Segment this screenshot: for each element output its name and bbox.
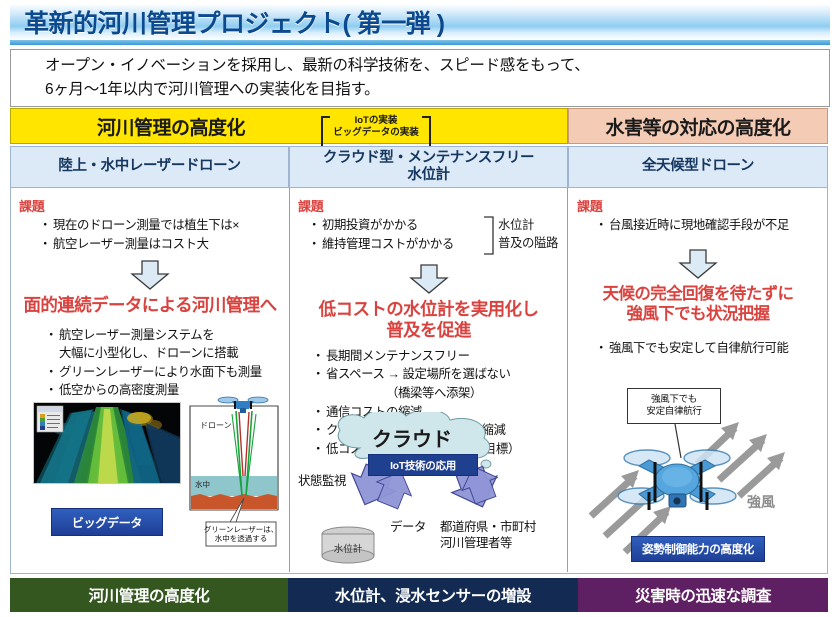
- footer-band: 河川管理の高度化 水位計、浸水センサーの増設 災害時の迅速な調査: [10, 578, 828, 612]
- brace-note-line-1: 水位計: [498, 217, 558, 235]
- laser-note-line-1: グリーンレーザーは、: [204, 524, 278, 534]
- green-laser-diagram-svg: ドローン 水中 グリーンレーザーは、 水中を透過する: [186, 384, 286, 564]
- list-item: グリーンレーザーにより水面下も測量: [45, 364, 289, 382]
- data-flow-label: データ: [390, 520, 426, 536]
- lead-line-1: オープン・イノベーションを採用し、最新の科学技術を、スピード感をもって、: [45, 54, 589, 78]
- subheader-label-3: 全天候型ドローン: [642, 158, 754, 175]
- iot-implementation-box: IoTの実装 ビッグデータの実装: [311, 111, 441, 143]
- column3-figure: 強風下でも 安定自律航行 強風 姿勢制御能力の高度化: [569, 384, 827, 572]
- column2-figure: クラウド: [290, 412, 568, 572]
- list-item: 大幅に小型化し、ドローンに搭載: [45, 345, 289, 363]
- column2-headline-line-2: 普及を促進: [290, 320, 567, 341]
- iot-chip-label: IoT技術の応用: [390, 458, 456, 473]
- subheader-cell-1: 陸上・水中レーザードローン: [10, 146, 289, 188]
- iot-technology-chip: IoT技術の応用: [368, 454, 478, 476]
- category-band: 河川管理の高度化 IoTの実装 ビッグデータの実装 水害等の対応の高度化: [10, 108, 828, 144]
- status-monitoring-label: 状態監視: [298, 474, 346, 490]
- column1-figure: ビッグデータ: [11, 380, 289, 572]
- category-right-peach: 水害等の対応の高度化: [568, 108, 828, 144]
- subheader-label-2-line-1: クラウド型・メンテナンスフリー: [323, 150, 534, 166]
- column3-headline-line-2: 強風下でも状況把握: [569, 304, 827, 324]
- list-item: 強風下でも安定して自律航行可能: [595, 340, 827, 358]
- iot-bracket-inner: IoTの実装 ビッグデータの実装: [321, 115, 431, 139]
- lidar-pointcloud-svg: [34, 403, 180, 483]
- callout-line-1: 強風下でも: [651, 394, 697, 406]
- column3-headline: 天候の完全回復を待たずに 強風下でも状況把握: [569, 284, 827, 324]
- footer-label-1: 河川管理の高度化: [89, 584, 210, 606]
- column-water-gauge: 課題 初期投資がかかる 維持管理コストがかかる 水位計 普及の隘路 低コストの水: [289, 188, 568, 572]
- subheader-label-2: クラウド型・メンテナンスフリー 水位計: [323, 150, 534, 185]
- brace-note-line-2: 普及の隘路: [498, 235, 558, 253]
- column1-headline: 面的連続データによる河川管理へ: [11, 295, 289, 316]
- subheader-cell-2: クラウド型・メンテナンスフリー 水位計: [289, 146, 568, 188]
- footer-label-3: 災害時の迅速な調査: [635, 584, 771, 606]
- column2-headline: 低コストの水位計を実用化し 普及を促進: [290, 299, 567, 342]
- subheader-band: 陸上・水中レーザードローン クラウド型・メンテナンスフリー 水位計 全天候型ドロ…: [10, 146, 828, 188]
- attitude-control-label: 姿勢制御能力の高度化: [642, 541, 754, 557]
- column2-headline-line-1: 低コストの水位計を実用化し: [290, 299, 567, 320]
- column3-headline-line-1: 天候の完全回復を待たずに: [569, 284, 827, 304]
- river-manager-line-1: 都道府県・市町村: [440, 520, 536, 536]
- column-lidar-drone: 課題 現在のドローン測量では植生下は× 航空レーザー測量はコスト大 面的連続デー…: [11, 188, 289, 572]
- bigdata-button[interactable]: ビッグデータ: [51, 508, 163, 536]
- list-item: 長期間メンテナンスフリー: [312, 348, 567, 366]
- subheader-label-1: 陸上・水中レーザードローン: [58, 158, 240, 175]
- column3-benefit-list: 強風下でも安定して自律航行可能: [595, 340, 827, 358]
- stable-flight-callout: 強風下でも 安定自律航行: [627, 388, 721, 424]
- page-title: 革新的河川管理プロジェクト( 第一弾 ): [10, 4, 445, 40]
- column1-issue-heading: 課題: [19, 196, 289, 215]
- list-item: 現在のドローン測量では植生下は×: [39, 217, 289, 235]
- bigdata-button-label: ビッグデータ: [72, 514, 142, 531]
- footer-label-2: 水位計、浸水センサーの増設: [335, 584, 531, 606]
- footer-cell-2: 水位計、浸水センサーの増設: [288, 578, 578, 612]
- category-right-label: 水害等の対応の高度化: [605, 113, 790, 140]
- callout-line-2: 安定自律航行: [646, 406, 701, 418]
- underwater-label-text: 水中: [195, 479, 210, 489]
- slide-root: 革新的河川管理プロジェクト( 第一弾 ) オープン・イノベーションを採用し、最新…: [0, 0, 840, 617]
- column3-issue-heading: 課題: [577, 196, 827, 215]
- category-left-yellow: 河川管理の高度化 IoTの実装 ビッグデータの実装: [10, 108, 568, 144]
- body-columns-area: 課題 現在のドローン測量では植生下は× 航空レーザー測量はコスト大 面的連続デー…: [10, 188, 828, 574]
- lead-line-2: 6ヶ月～1年以内で河川管理への実装化を目指す。: [45, 78, 589, 102]
- column1-issue-list: 現在のドローン測量では植生下は× 航空レーザー測量はコスト大: [39, 217, 289, 253]
- lead-statement-text: オープン・イノベーションを採用し、最新の科学技術を、スピード感をもって、 6ヶ月…: [11, 54, 589, 102]
- subheader-label-2-line-2: 水位計: [407, 167, 449, 183]
- list-item: 維持管理コストがかかる: [308, 236, 488, 254]
- category-left-label: 河川管理の高度化: [97, 113, 245, 140]
- list-item: （橋梁等へ添架）: [312, 385, 567, 403]
- water-gauge-label-text: 水位計: [334, 543, 363, 555]
- list-item: 台風接近時に現地確認手段が不足: [595, 217, 827, 235]
- list-item: 航空レーザー測量システムを: [45, 327, 289, 345]
- subheader-cell-3: 全天候型ドローン: [568, 146, 828, 188]
- green-laser-diagram: ドローン 水中 グリーンレーザーは、 水中を透過する: [186, 384, 286, 564]
- lead-statement-box: オープン・イノベーションを採用し、最新の科学技術を、スピード感をもって、 6ヶ月…: [10, 49, 830, 107]
- column2-issue-heading: 課題: [298, 196, 567, 215]
- footer-cell-1: 河川管理の高度化: [10, 578, 288, 612]
- list-item: 初期投資がかかる: [308, 217, 488, 235]
- down-arrow-icon: [677, 249, 719, 279]
- down-arrow-icon: [129, 260, 171, 290]
- down-arrow-icon: [408, 264, 450, 294]
- list-item: 省スペース → 設定場所を選ばない: [312, 366, 567, 384]
- column2-brace-note: 水位計 普及の隘路: [498, 217, 558, 252]
- curly-brace-icon: [482, 216, 496, 256]
- slide-title-bar: 革新的河川管理プロジェクト( 第一弾 ): [10, 4, 830, 40]
- column-allweather-drone: 課題 台風接近時に現地確認手段が不足 天候の完全回復を待たずに 強風下でも状況把…: [569, 188, 827, 572]
- column3-issue-list: 台風接近時に現地確認手段が不足: [595, 217, 827, 235]
- strong-wind-label: 強風: [747, 492, 775, 512]
- column2-issue-list: 初期投資がかかる 維持管理コストがかかる: [308, 217, 488, 253]
- river-manager-label: 都道府県・市町村 河川管理者等: [440, 520, 536, 551]
- iot-label-line-1: IoTの実装: [333, 115, 419, 127]
- iot-label-line-2: ビッグデータの実装: [333, 127, 419, 139]
- river-manager-line-2: 河川管理者等: [440, 536, 536, 552]
- attitude-control-button[interactable]: 姿勢制御能力の高度化: [631, 536, 765, 562]
- title-underline-rule: [10, 40, 830, 45]
- cloud-label-text: クラウド: [372, 428, 452, 451]
- column2-issue-block: 初期投資がかかる 維持管理コストがかかる 水位計 普及の隘路: [290, 217, 567, 257]
- drone-label-text: ドローン: [200, 421, 232, 430]
- list-item: 航空レーザー測量はコスト大: [39, 236, 289, 254]
- lidar-pointcloud-image: [33, 402, 181, 484]
- laser-note-line-2: 水中を透過する: [215, 533, 268, 543]
- footer-cell-3: 災害時の迅速な調査: [578, 578, 828, 612]
